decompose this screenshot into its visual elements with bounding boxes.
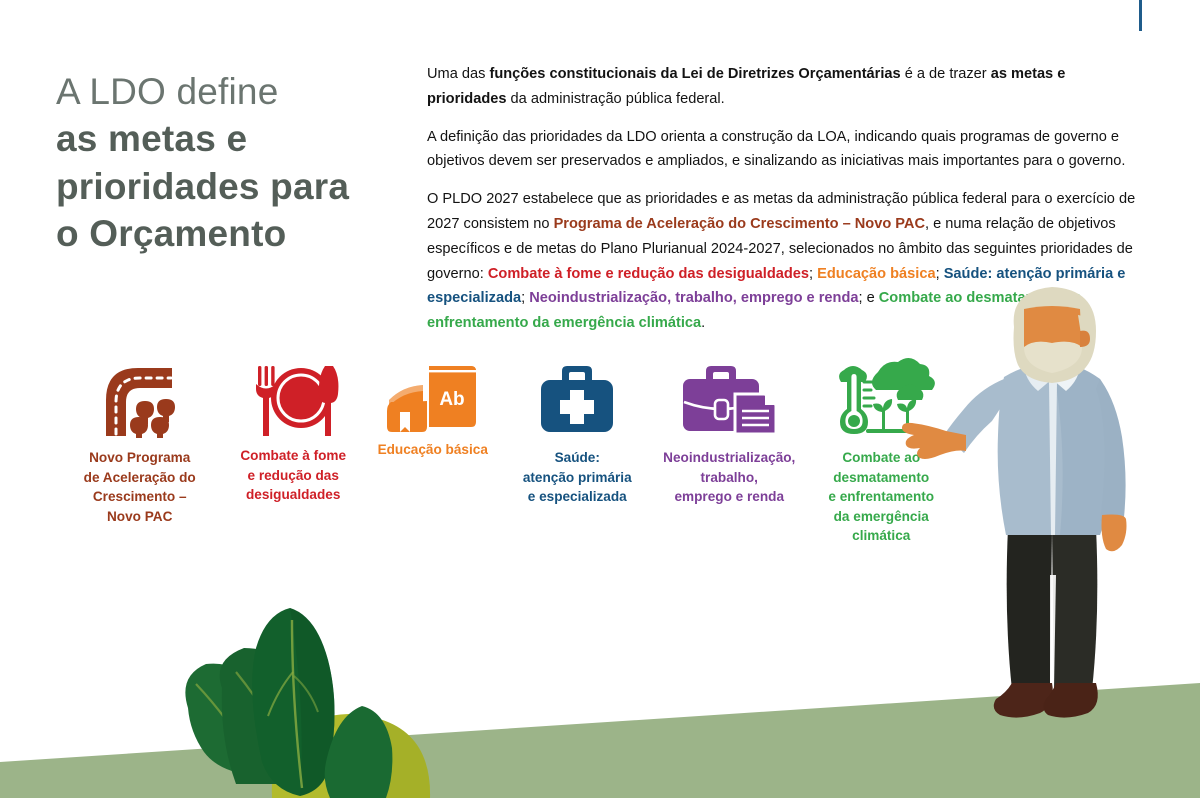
priority-item-novo-pac[interactable]: Novo Programa de Aceleração do Crescimen… xyxy=(56,352,223,526)
priority-label-neoindustrializacao: Neoindustrialização, trabalho, emprego e… xyxy=(663,448,795,507)
label-line: Novo PAC xyxy=(84,507,196,527)
priority-item-combate-fome[interactable]: Combate à fome e redução das desigualdad… xyxy=(223,352,363,505)
title-line-4: o Orçamento xyxy=(56,210,401,257)
plate-fork-knife-icon xyxy=(247,352,339,436)
leaf-center-highlight xyxy=(290,608,335,796)
p3-sep-4: ; e xyxy=(858,290,878,306)
title-line-2: as metas e xyxy=(56,115,401,162)
page-title: A LDO define as metas e prioridades para… xyxy=(56,68,401,257)
priority-item-educacao[interactable]: Ab Educação básica xyxy=(363,352,503,460)
trouser-right xyxy=(1052,528,1097,690)
title-line-3: prioridades para xyxy=(56,163,401,210)
paragraph-2: A definição das prioridades da LDO orien… xyxy=(427,125,1137,175)
infographic-page: A LDO define as metas e prioridades para… xyxy=(0,0,1200,798)
leaf-left-back xyxy=(185,664,271,776)
priority-label-novo-pac: Novo Programa de Aceleração do Crescimen… xyxy=(84,448,196,526)
title-line-1: A LDO define xyxy=(56,68,401,115)
priority-label-combate-fome: Combate à fome e redução das desigualdad… xyxy=(240,446,346,505)
p3-sep-1: ; xyxy=(809,266,817,282)
p1-bold-1: funções constitucionais da Lei de Diretr… xyxy=(489,66,900,82)
priority-item-neoindustrializacao[interactable]: Neoindustrialização, trabalho, emprego e… xyxy=(652,352,806,507)
briefcase-document-icon xyxy=(677,352,781,436)
medical-bag-cross-icon xyxy=(537,352,617,436)
leaf-center-vein xyxy=(292,620,302,788)
label-line: trabalho, xyxy=(663,468,795,488)
shoe-left xyxy=(994,683,1053,718)
p3-sep-2: ; xyxy=(936,266,944,282)
label-line: Crescimento – xyxy=(84,487,196,507)
priority-label-educacao: Educação básica xyxy=(378,440,488,460)
priority-item-saude[interactable]: Saúde: atenção primária e especializada xyxy=(503,352,653,507)
fruit-shade xyxy=(348,714,430,798)
priorities-icon-row: Novo Programa de Aceleração do Crescimen… xyxy=(56,352,956,546)
label-line: emprego e renda xyxy=(663,487,795,507)
highlight-neoindustrializacao: Neoindustrialização, trabalho, emprego e… xyxy=(529,290,858,306)
elderly-man-pointing xyxy=(900,285,1200,760)
p3-sep-3: ; xyxy=(521,290,529,306)
label-line: Saúde: xyxy=(523,448,632,468)
label-line: Novo Programa xyxy=(84,448,196,468)
trouser-left xyxy=(1007,528,1052,690)
label-line: desigualdades xyxy=(240,485,346,505)
label-line: e redução das xyxy=(240,466,346,486)
leaf-right-small xyxy=(325,706,393,798)
character-illustration xyxy=(900,285,1200,760)
highlight-novo-pac: Programa de Aceleração do Crescimento – … xyxy=(554,216,925,232)
p1-text-2: é a de trazer xyxy=(901,66,991,82)
p1-text-3: da administração pública federal. xyxy=(506,91,724,107)
leaf-left-mid xyxy=(220,648,313,784)
paragraph-1: Uma das funções constitucionais da Lei d… xyxy=(427,62,1137,112)
fruit-shape xyxy=(272,714,430,798)
leaf-center-tall xyxy=(252,608,334,796)
highlight-combate-fome: Combate à fome e redução das desigualdad… xyxy=(488,266,809,282)
label-line: de Aceleração do xyxy=(84,468,196,488)
label-line: Combate à fome xyxy=(240,446,346,466)
p1-text-1: Uma das xyxy=(427,66,489,82)
label-line: Educação básica xyxy=(378,440,488,460)
accent-bar xyxy=(1139,0,1142,31)
road-with-trees-icon xyxy=(98,352,182,436)
leaf-center-vein-b1 xyxy=(268,672,293,716)
label-line: Neoindustrialização, xyxy=(663,448,795,468)
books-ab-icon: Ab xyxy=(385,352,481,436)
label-line: atenção primária xyxy=(523,468,632,488)
priority-label-saude: Saúde: atenção primária e especializada xyxy=(523,448,632,507)
plant-cluster xyxy=(185,608,430,798)
hand-right xyxy=(1102,515,1127,552)
svg-text:Ab: Ab xyxy=(439,389,464,410)
highlight-educacao: Educação básica xyxy=(817,266,935,282)
p3-text-3: . xyxy=(701,315,705,331)
leaf-center-vein-b2 xyxy=(294,676,318,712)
label-line: e especializada xyxy=(523,487,632,507)
leaf-left-back-vein xyxy=(196,684,258,768)
leaf-left-mid-vein xyxy=(236,672,300,778)
